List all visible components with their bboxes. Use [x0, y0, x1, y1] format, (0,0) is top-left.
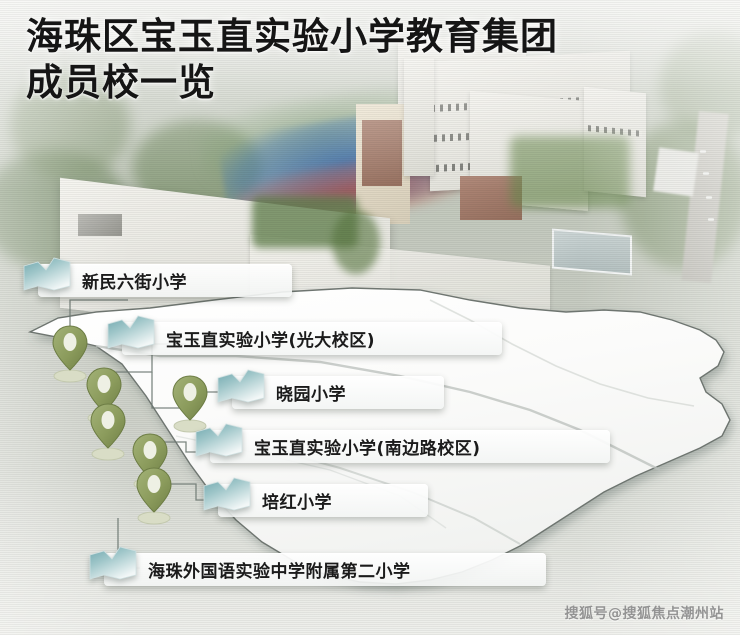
flag-marker-icon — [104, 314, 160, 354]
pin-hole — [148, 475, 161, 493]
school-label-haizhu-waiguoyu-fushu-2[interactable]: 海珠外国语实验中学附属第二小学 — [104, 553, 546, 586]
pin-hole — [64, 333, 77, 351]
flag-marker-icon — [200, 476, 256, 516]
school-name: 晓园小学 — [276, 380, 346, 405]
school-label-xiaoyuan[interactable]: 晓园小学 — [232, 376, 444, 409]
pin-hole — [102, 411, 115, 429]
pin-base-shadow — [92, 448, 124, 460]
map-pin-nanbianlu[interactable] — [86, 400, 130, 462]
pin-hole — [144, 441, 157, 459]
school-name: 宝玉直实验小学(光大校区) — [166, 326, 375, 351]
poster-root: 海珠区宝玉直实验小学教育集团 成员校一览 — [0, 0, 740, 635]
pin-hole — [98, 375, 111, 393]
map-pin-peihong-lower[interactable] — [132, 464, 176, 526]
flag-marker-icon — [86, 545, 142, 585]
watermark: 搜狐号@搜狐焦点潮州站 — [565, 603, 725, 623]
school-label-xinmin-liujie[interactable]: 新民六街小学 — [38, 264, 292, 297]
pin-hole — [184, 383, 197, 401]
school-name: 宝玉直实验小学(南边路校区) — [254, 434, 481, 459]
pin-base-shadow — [138, 512, 170, 524]
school-label-baoyuzhi-nanbianlu[interactable]: 宝玉直实验小学(南边路校区) — [210, 430, 610, 463]
school-name: 培红小学 — [262, 488, 332, 513]
flag-marker-icon — [214, 368, 270, 408]
flag-marker-icon — [20, 256, 76, 296]
flag-marker-icon — [192, 422, 248, 462]
school-label-peihong[interactable]: 培红小学 — [218, 484, 428, 517]
school-name: 海珠外国语实验中学附属第二小学 — [148, 557, 411, 582]
school-label-baoyuzhi-guangda[interactable]: 宝玉直实验小学(光大校区) — [122, 322, 502, 355]
school-name: 新民六街小学 — [82, 268, 187, 293]
